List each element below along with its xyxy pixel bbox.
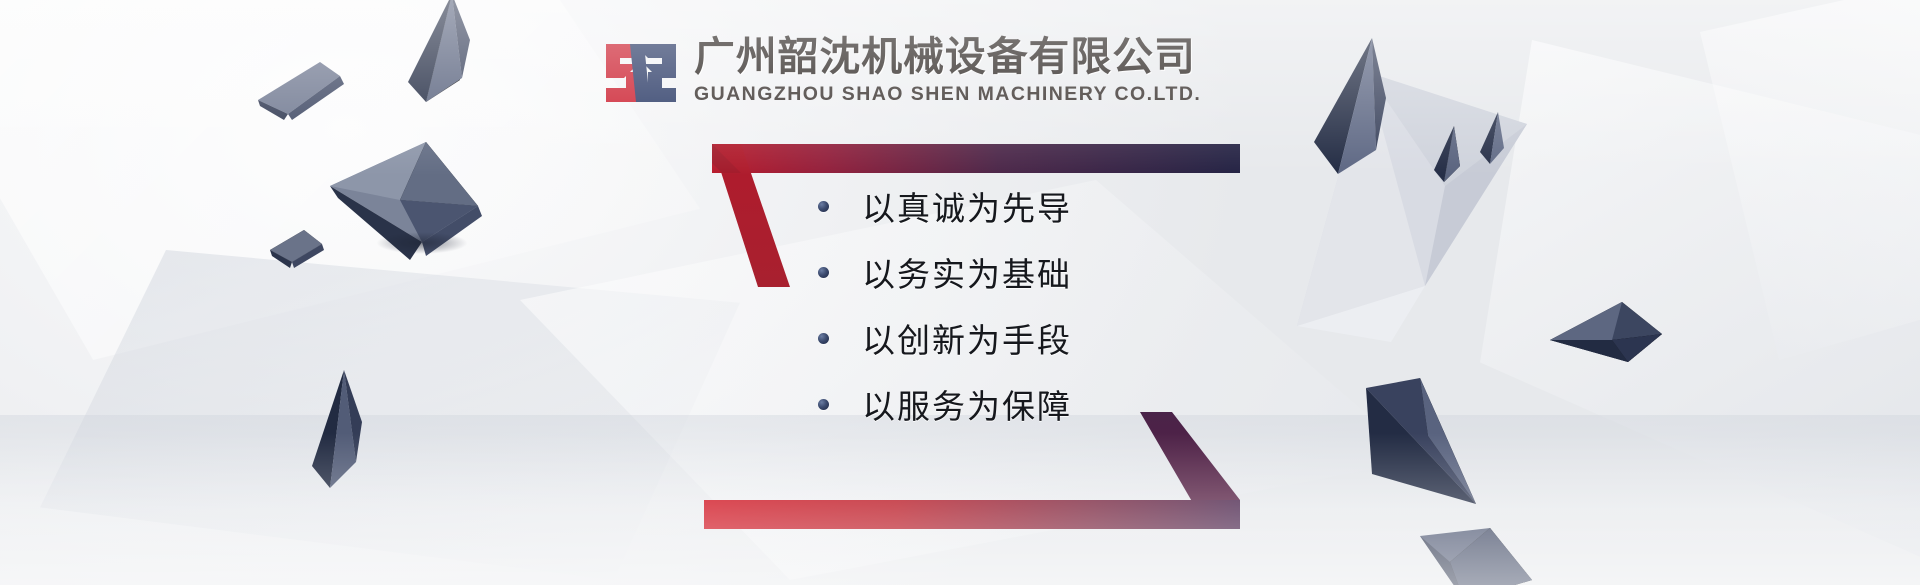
company-banner: 广州韶沈机械设备有限公司 GUANGZHOU SHAO SHEN MACHINE… [0,0,1920,585]
background-vignette [0,0,1920,585]
